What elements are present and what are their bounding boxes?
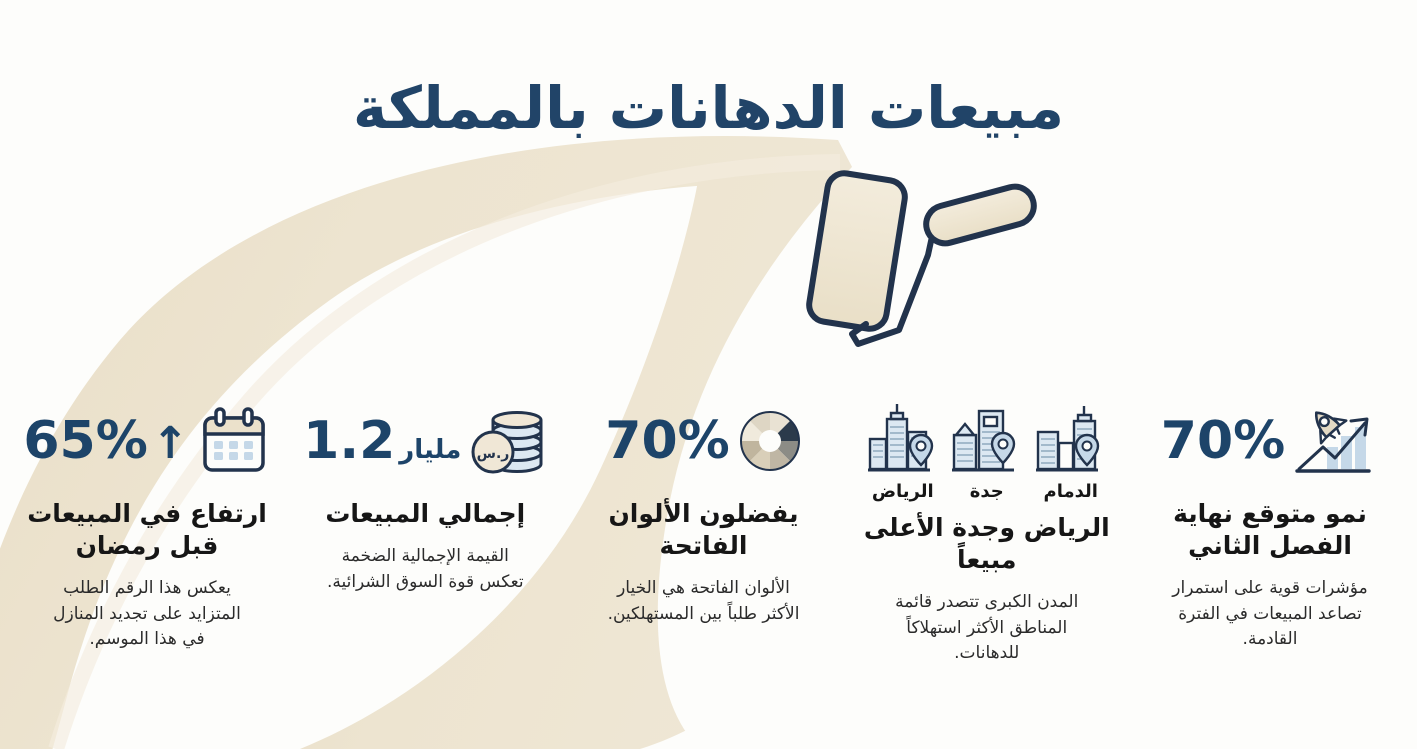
stat-number: 1.2 (303, 415, 395, 467)
stat-body: الألوان الفاتحة هي الخيار الأكثر طلباً ب… (596, 576, 811, 627)
city-jeddah[interactable]: جدة (950, 399, 1024, 502)
stat-value-light-colors: 70% (605, 415, 729, 467)
stat-number: 70% (1161, 415, 1285, 467)
stat-heading: إجمالي المبيعات (325, 498, 525, 530)
paint-roller-icon (807, 171, 1038, 344)
stat-card-q2-growth[interactable]: 70% (1141, 398, 1399, 653)
roller-frame (852, 232, 933, 344)
roller-handle (922, 182, 1038, 247)
color-wheel-icon (738, 409, 802, 473)
stat-number: 65% (23, 415, 147, 467)
city-riyadh-icon (866, 399, 940, 479)
stat-body: يعكس هذا الرقم الطلب المتزايد على تجديد … (40, 576, 255, 653)
stat-figure: مليار 1.2 ر.س (303, 398, 547, 484)
roller-drum (807, 171, 908, 331)
stat-body: مؤشرات قوية على استمرار تصاعد المبيعات ف… (1163, 576, 1378, 653)
city-dammam[interactable]: الدمام (1034, 399, 1108, 502)
stat-number: 70% (605, 415, 729, 467)
city-dammam-icon (1034, 399, 1108, 479)
calendar-icon (197, 404, 271, 478)
city-jeddah-icon (950, 399, 1024, 479)
stat-body: القيمة الإجمالية الضخمة تعكس قوة السوق ا… (318, 544, 533, 595)
stat-card-light-colors[interactable]: 70% يفضل (575, 398, 833, 627)
city-label: الرياض (872, 481, 934, 502)
coin-currency-label: ر.س (477, 446, 510, 462)
stats-row: ↑ 65% (0, 398, 1417, 728)
page-title: مبيعات الدهانات بالمملكة (0, 77, 1417, 141)
city-label: جدة (970, 481, 1004, 502)
stat-card-top-cities[interactable]: الرياض (853, 398, 1121, 667)
rocket-growth-icon (1293, 403, 1379, 479)
up-arrow-icon: ↑ (152, 422, 189, 466)
coins-icon: ر.س (469, 406, 547, 476)
stat-body: المدن الكبرى تتصدر قائمة المناطق الأكثر … (879, 590, 1094, 667)
stat-value-pre-ramadan: ↑ 65% (23, 415, 188, 467)
city-label: الدمام (1044, 481, 1098, 502)
stat-figure: 70% (605, 398, 801, 484)
city-skyline-icons: الرياض (866, 398, 1108, 502)
city-riyadh[interactable]: الرياض (866, 399, 940, 502)
stat-heading: الرياض وجدة الأعلى مبيعاً (862, 512, 1112, 576)
stat-heading: يفضلون الألوان الفاتحة (579, 498, 829, 562)
stat-value-total-sales: مليار 1.2 (303, 415, 461, 467)
stat-unit: مليار (399, 437, 461, 463)
infographic-canvas: مبيعات الدهانات بالمملكة ↑ 65% (0, 0, 1417, 749)
stat-heading: ارتفاع في المبيعات قبل رمضان (22, 498, 272, 562)
stat-figure: 70% (1161, 398, 1379, 484)
stat-card-pre-ramadan-sales[interactable]: ↑ 65% (18, 398, 276, 653)
stat-figure: ↑ 65% (23, 398, 270, 484)
stat-card-total-sales[interactable]: مليار 1.2 ر.س (296, 398, 554, 595)
stat-heading: نمو متوقع نهاية الفصل الثاني (1145, 498, 1395, 562)
stat-value-q2-growth: 70% (1161, 415, 1285, 467)
